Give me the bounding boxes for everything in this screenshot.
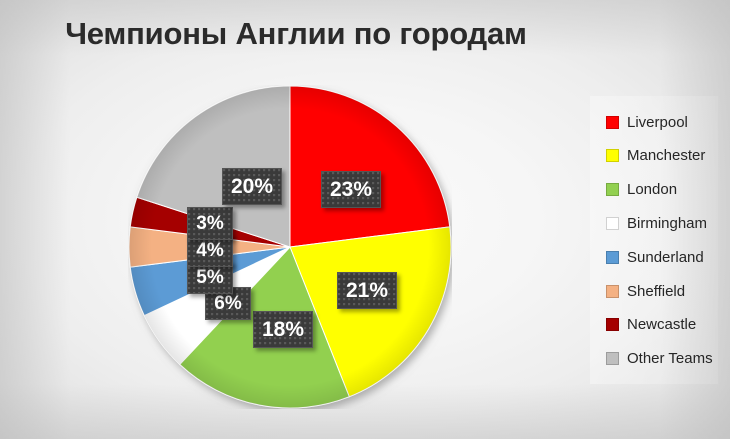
pie-edge-shading	[129, 86, 451, 408]
legend-item-other-teams[interactable]: Other Teams	[606, 350, 713, 368]
legend-swatch-icon	[606, 116, 619, 129]
legend-label: Liverpool	[627, 114, 688, 131]
legend-swatch-icon	[606, 352, 619, 365]
legend-label: Newcastle	[627, 316, 696, 333]
legend-swatch-icon	[606, 285, 619, 298]
legend-item-sunderland[interactable]: Sunderland	[606, 248, 704, 266]
legend-item-sheffield[interactable]: Sheffield	[606, 282, 685, 300]
chart-title: Чемпионы Англии по городам	[0, 16, 592, 52]
legend-label: London	[627, 181, 677, 198]
legend-item-birmingham[interactable]: Birmingham	[606, 214, 707, 232]
data-label-other-teams: 20%	[222, 168, 282, 205]
legend-item-manchester[interactable]: Manchester	[606, 147, 705, 165]
chart-canvas: Чемпионы Англии по городам 23%21%18%6%5%…	[0, 0, 730, 439]
legend-label: Manchester	[627, 147, 705, 164]
data-label-manchester: 21%	[337, 272, 397, 309]
pie-svg	[128, 85, 452, 409]
legend-item-liverpool[interactable]: Liverpool	[606, 113, 688, 131]
legend-label: Sunderland	[627, 249, 704, 266]
legend-swatch-icon	[606, 149, 619, 162]
legend-swatch-icon	[606, 318, 619, 331]
data-label-newcastle: 3%	[187, 207, 233, 240]
legend-swatch-icon	[606, 217, 619, 230]
legend-swatch-icon	[606, 251, 619, 264]
legend-label: Sheffield	[627, 283, 685, 300]
data-label-london: 18%	[253, 311, 313, 348]
legend-label: Birmingham	[627, 215, 707, 232]
pie-chart	[128, 85, 452, 409]
data-label-liverpool: 23%	[321, 171, 381, 208]
legend-label: Other Teams	[627, 350, 713, 367]
legend-swatch-icon	[606, 183, 619, 196]
legend-item-newcastle[interactable]: Newcastle	[606, 316, 696, 334]
legend-panel: LiverpoolManchesterLondonBirminghamSunde…	[590, 96, 718, 384]
legend-item-london[interactable]: London	[606, 181, 677, 199]
